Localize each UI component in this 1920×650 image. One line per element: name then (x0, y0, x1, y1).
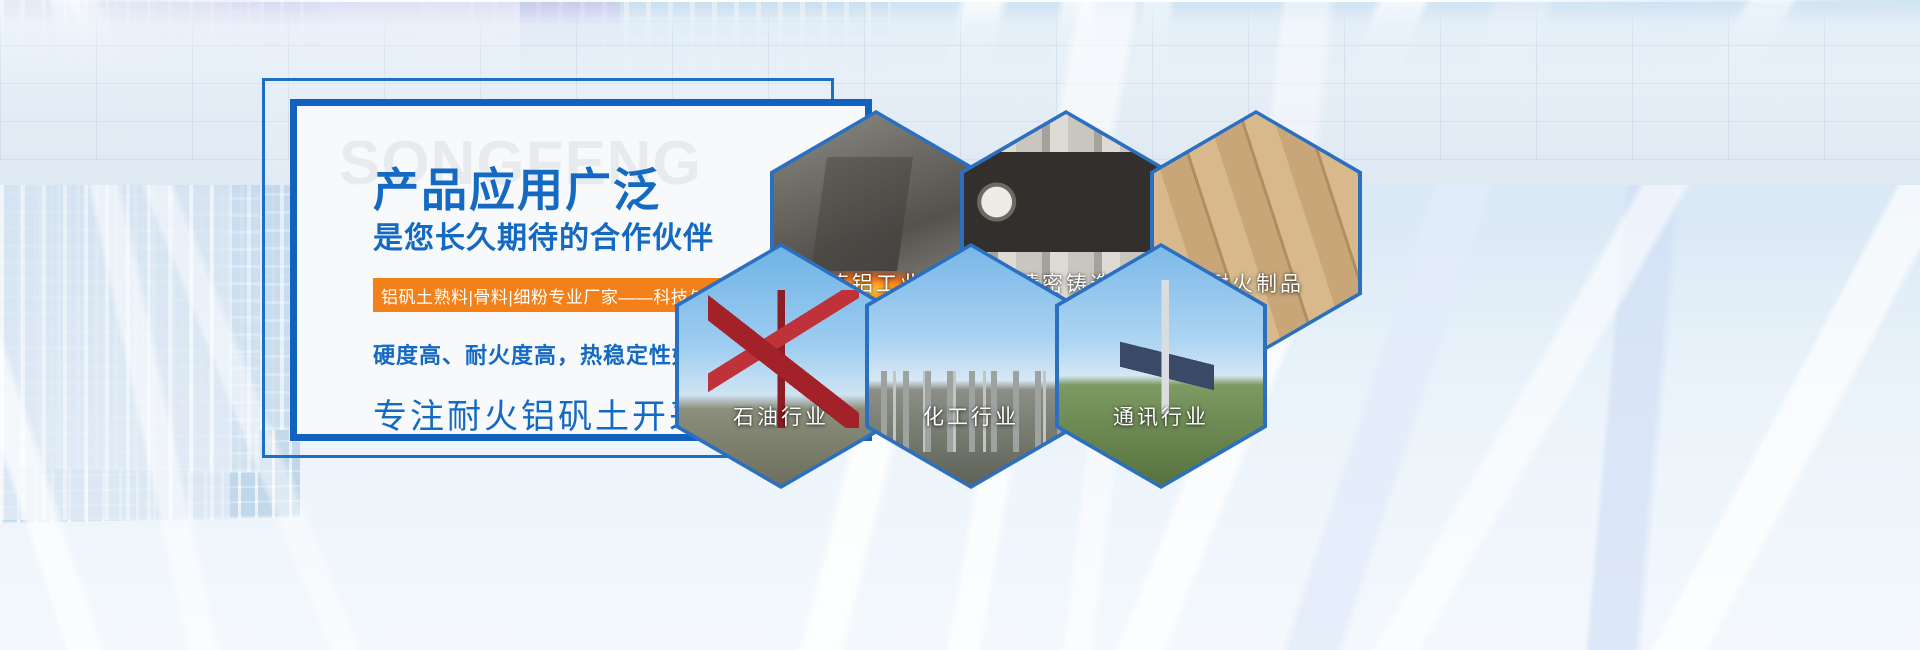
hex-label-4: 化工行业 (869, 401, 1073, 431)
hex-label-5: 通讯行业 (1059, 401, 1263, 431)
hex-label-3: 石油行业 (679, 401, 883, 431)
promotional-banner: SONGFENG 产品应用广泛 是您长久期待的合作伙伴 铝矾土熟料|骨料|细粉专… (0, 0, 1920, 650)
background-horizon-line (0, 0, 1920, 2)
headline-text: 产品应用广泛 (373, 154, 661, 220)
industry-hexagon-grid: 炼铝工业 精密铸造 耐火制品 石油行业 化工行业 (660, 68, 1380, 588)
